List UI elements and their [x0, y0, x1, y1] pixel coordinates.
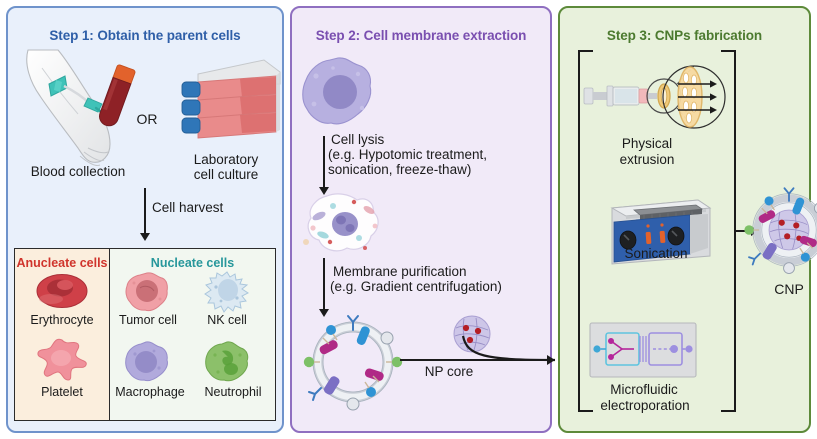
step-1-title: Step 1: Obtain the parent cells [8, 28, 282, 43]
anucleate-cells-column: Anucleate cells Erythrocyte Platelet [15, 249, 110, 420]
cnp-label: CNP [742, 282, 817, 297]
cell-culture-label-line2: cell culture [166, 167, 286, 182]
cell-membrane-vesicle-icon [299, 312, 407, 412]
physical-extrusion-label-line1: Physical [592, 136, 702, 151]
cell-lysis-label-line2: (e.g. Hypotomic treatment, [328, 147, 558, 162]
nucleate-cells-column: Nucleate cells Tumor cell NK cell [110, 249, 275, 420]
cell-lysis-arrow [323, 136, 325, 188]
blood-collection-label: Blood collection [8, 164, 148, 179]
microfluidic-label-line2: electroporation [580, 398, 710, 413]
step-3-title: Step 3: CNPs fabrication [560, 28, 809, 43]
nucleate-cells-header: Nucleate cells [110, 256, 275, 270]
platelet-icon [34, 334, 90, 382]
nk-cell-icon [204, 271, 250, 313]
microfluidic-chip-illustration [589, 322, 697, 378]
anucleate-cells-header: Anucleate cells [15, 256, 109, 270]
cell-lysis-label-line1: Cell lysis [331, 132, 561, 147]
cnp-product-icon [740, 182, 817, 278]
cell-culture-flask-illustration [180, 52, 284, 150]
tumor-cell-icon [124, 271, 170, 313]
intact-parent-cell-icon [300, 56, 376, 130]
step-2-title: Step 2: Cell membrane extraction [292, 28, 550, 43]
neutrophil-label: Neutrophil [192, 385, 274, 399]
nk-cell-label: NK cell [192, 313, 262, 327]
np-core-feed-curve [405, 330, 555, 370]
macrophage-icon [124, 341, 170, 383]
neutrophil-icon [204, 341, 250, 383]
tumor-cell-label: Tumor cell [114, 313, 182, 327]
physical-extrusion-illustration [582, 56, 724, 146]
erythrocyte-label: Erythrocyte [15, 313, 109, 327]
erythrocyte-icon [36, 273, 88, 309]
platelet-label: Platelet [15, 385, 109, 399]
lysed-cell-icon [297, 190, 393, 258]
or-label: OR [128, 112, 166, 127]
cell-culture-label-line1: Laboratory [166, 152, 286, 167]
microfluidic-label-line1: Microfluidic [586, 382, 702, 397]
blood-collection-illustration [18, 48, 148, 173]
cell-harvest-label: Cell harvest [152, 200, 262, 215]
membrane-purification-arrow [323, 258, 325, 310]
parent-cell-types-box: Anucleate cells Erythrocyte Platelet Nuc… [14, 248, 276, 421]
cell-lysis-label-line3: sonication, freeze-thaw) [328, 162, 558, 177]
cell-harvest-arrow [144, 188, 146, 234]
sonication-label-line1: Sonication [598, 246, 714, 261]
physical-extrusion-label-line2: extrusion [592, 152, 702, 167]
membrane-purification-label-line2: (e.g. Gradient centrifugation) [330, 279, 570, 294]
membrane-purification-label-line1: Membrane purification [333, 264, 563, 279]
cnp-fabrication-diagram: Step 1: Obtain the parent cells Blood co… [0, 0, 817, 439]
macrophage-label: Macrophage [108, 385, 192, 399]
membrane-to-fabrication-arrow [400, 359, 548, 361]
